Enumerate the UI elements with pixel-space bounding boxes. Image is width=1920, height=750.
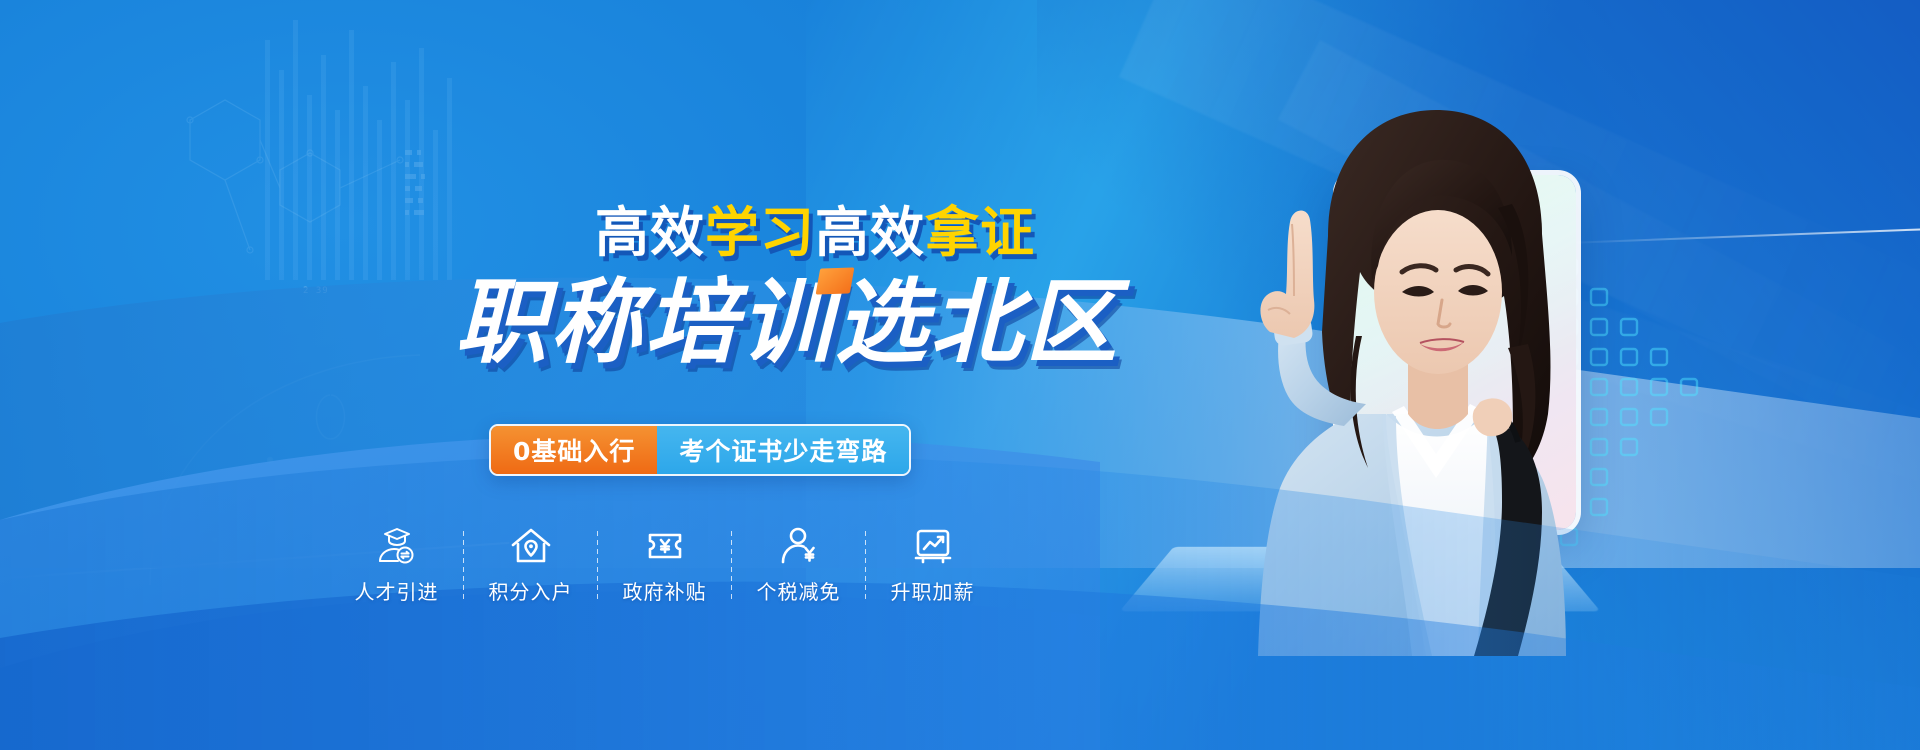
chart-board-icon — [912, 525, 954, 567]
feature-label-talent: 人才引进 — [355, 576, 439, 605]
person-yuan-icon — [778, 525, 820, 567]
badge-left-label: 0基础入行 — [491, 426, 657, 474]
feature-label-promotion: 升职加薪 — [891, 576, 975, 605]
orange-accent-mark-icon — [816, 267, 855, 294]
house-pin-icon — [510, 525, 552, 567]
promo-banner: 2 39 — [0, 0, 1920, 750]
feature-label-subsidy: 政府补贴 — [623, 576, 707, 605]
feature-label-residency: 积分入户 — [489, 576, 573, 605]
feature-list: 人才引进 积分入户 — [330, 525, 999, 605]
feature-item-promotion[interactable]: 升职加薪 — [866, 525, 999, 605]
feature-item-residency[interactable]: 积分入户 — [464, 525, 597, 605]
promo-badge: 0基础入行 考个证书少走弯路 — [489, 424, 911, 476]
feature-item-talent[interactable]: 人才引进 — [330, 525, 463, 605]
graduate-person-icon — [376, 525, 418, 567]
ticket-yuan-icon — [644, 525, 686, 567]
feature-label-tax: 个税减免 — [757, 576, 841, 605]
headline-line-2: 职称培训选北区 — [0, 248, 1120, 381]
badge-right-label: 考个证书少走弯路 — [657, 426, 909, 474]
feature-item-subsidy[interactable]: 政府补贴 — [598, 525, 731, 605]
feature-item-tax[interactable]: 个税减免 — [732, 525, 865, 605]
banner-content: 高效学习高效拿证 职称培训选北区 0基础入行 考个证书少走弯路 — [0, 0, 1160, 750]
